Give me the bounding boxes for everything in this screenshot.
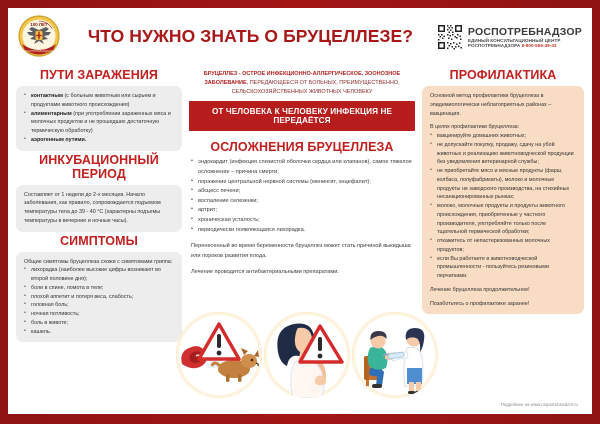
pregnancy-note: Перенесенный во время беременности бруце… bbox=[189, 242, 415, 261]
poster-columns: ПУТИ ЗАРАЖЕНИЯ контактным (с больным жив… bbox=[8, 66, 592, 414]
treatment-note: Лечение проводится антибактериальными пр… bbox=[189, 268, 415, 278]
brand-subtitle-line2: РОСПОТРЕБНАДЗОРА 8-800-555-49-43 bbox=[468, 43, 582, 48]
brand-text: РОСПОТРЕБНАДЗОР ЕДИНЫЙ КОНСУЛЬТАЦИОННЫЙ … bbox=[468, 26, 582, 49]
list-item: плохой аппетит и потеря веса, слабость; bbox=[24, 293, 174, 302]
poster-frame: 100 ЛЕТ РОСПОТРЕБНАДЗОР ЧТО НУЖНО ЗНАТЬ … bbox=[0, 0, 600, 424]
list-item: периодически появляющаяся лихорадка. bbox=[191, 226, 413, 236]
section-title-incubation: ИНКУБАЦИОННЫЙ ПЕРИОД bbox=[16, 153, 182, 181]
brand-block: РОСПОТРЕБНАДЗОР ЕДИНЫЙ КОНСУЛЬТАЦИОННЫЙ … bbox=[437, 24, 582, 50]
section-title-symptoms: СИМПТОМЫ bbox=[16, 234, 182, 248]
poster-header: 100 ЛЕТ РОСПОТРЕБНАДЗОР ЧТО НУЖНО ЗНАТЬ … bbox=[8, 8, 592, 66]
page-title: ЧТО НУЖНО ЗНАТЬ О БРУЦЕЛЛЕЗЕ? bbox=[64, 27, 437, 46]
list-item: если Вы работаете в животноводческой про… bbox=[430, 255, 576, 281]
transmission-term: контактным bbox=[31, 93, 63, 99]
card-incubation: Составляет от 1 недели до 2-х месяцев. Н… bbox=[16, 185, 182, 232]
incubation-text: Составляет от 1 недели до 2-х месяцев. Н… bbox=[24, 191, 174, 226]
list-item: ночная потливость; bbox=[24, 310, 174, 319]
closing-line-2: Позаботьтесь о профилактике заранее! bbox=[430, 300, 576, 309]
list-item: боль в животе; bbox=[24, 319, 174, 328]
list-item: головная боль; bbox=[24, 301, 174, 310]
list-item: эндокардит (инфекция слизистой оболочки … bbox=[191, 158, 413, 177]
list-item: артрит; bbox=[191, 206, 413, 216]
list-item: не приобретайте мясо и мясные продукты (… bbox=[430, 167, 576, 202]
section-title-complications: ОСЛОЖНЕНИЯ БРУЦЕЛЛЕЗА bbox=[189, 140, 415, 154]
svg-text:РОСПОТРЕБНАДЗОР: РОСПОТРЕБНАДЗОР bbox=[26, 49, 53, 53]
brand-subtitle-org: РОСПОТРЕБНАДЗОРА bbox=[468, 43, 520, 48]
list-item: поражение центральной нервной системы (м… bbox=[191, 178, 413, 188]
svg-text:100 ЛЕТ: 100 ЛЕТ bbox=[30, 22, 48, 27]
list-item: молоко, молочные продукты и продукты жив… bbox=[430, 202, 576, 237]
poster-sheet: 100 ЛЕТ РОСПОТРЕБНАДЗОР ЧТО НУЖНО ЗНАТЬ … bbox=[8, 8, 592, 414]
column-right: ПРОФИЛАКТИКА Основной метод профилактики… bbox=[422, 66, 584, 414]
qr-code-icon[interactable] bbox=[437, 24, 463, 50]
hotline-phone[interactable]: 8-800-555-49-43 bbox=[522, 43, 557, 48]
list-item: воспаление селезенки; bbox=[191, 197, 413, 207]
list-item: кашель. bbox=[24, 328, 174, 337]
brand-name: РОСПОТРЕБНАДЗОР bbox=[468, 26, 582, 38]
symptoms-intro: Общие симптомы бруцеллеза схожи с симпто… bbox=[24, 258, 174, 267]
list-item: боли в спине, ломота в теле; bbox=[24, 284, 174, 293]
list-item: откажитесь от непастеризованных молочных… bbox=[430, 237, 576, 255]
transmission-term: алиментарным bbox=[31, 111, 72, 117]
column-middle: БРУЦЕЛЛЕЗ - ОСТРОЕ ИНФЕКЦИОННО-АЛЛЕРГИЧЕ… bbox=[189, 66, 415, 414]
section-title-transmission: ПУТИ ЗАРАЖЕНИЯ bbox=[16, 68, 182, 82]
list-item: лихорадка (наиболее высокие цифры возник… bbox=[24, 266, 174, 284]
prophylaxis-intro: Основной метод профилактики бруцеллеза в… bbox=[430, 92, 576, 118]
rospotrebnadzor-emblem-icon: 100 ЛЕТ РОСПОТРЕБНАДЗОР bbox=[14, 12, 64, 62]
definition-text: БРУЦЕЛЛЕЗ - ОСТРОЕ ИНФЕКЦИОННО-АЛЛЕРГИЧЕ… bbox=[189, 66, 415, 101]
transmission-term: аэрогенным путями. bbox=[31, 137, 86, 143]
list-item: хроническая усталость; bbox=[191, 216, 413, 226]
card-transmission: контактным (с больным животным или сырье… bbox=[16, 86, 182, 151]
list-item: аэрогенным путями. bbox=[24, 136, 174, 145]
complications-list: эндокардит (инфекция слизистой оболочки … bbox=[189, 158, 415, 235]
footer-note: Подробнее на www.rospotrebnadzor.ru bbox=[501, 402, 578, 407]
list-item: вакцинируйте домашних животных; bbox=[430, 132, 576, 141]
definition-rest: , ПЕРЕДАЮЩЕЕСЯ ОТ БОЛЬНЫХ, ПРЕИМУЩЕСТВЕН… bbox=[232, 80, 400, 95]
column-left: ПУТИ ЗАРАЖЕНИЯ контактным (с больным жив… bbox=[16, 66, 182, 414]
prophylaxis-list-intro: В целях профилактики бруцеллеза: bbox=[430, 123, 576, 132]
section-title-prophylaxis: ПРОФИЛАКТИКА bbox=[422, 68, 584, 82]
card-prophylaxis: Основной метод профилактики бруцеллеза в… bbox=[422, 86, 584, 314]
closing-line-1: Лечение бруцеллеза продолжительное! bbox=[430, 286, 576, 295]
no-human-transmission-banner: ОТ ЧЕЛОВЕКА К ЧЕЛОВЕКУ ИНФЕКЦИЯ НЕ ПЕРЕД… bbox=[189, 101, 415, 131]
card-symptoms: Общие симптомы бруцеллеза схожи с симпто… bbox=[16, 252, 182, 343]
list-item: контактным (с больным животным или сырье… bbox=[24, 92, 174, 110]
list-item: не допускайте покупку, продажу, сдачу на… bbox=[430, 141, 576, 167]
list-item: алиментарным (при употреблении зараженны… bbox=[24, 110, 174, 136]
list-item: абсцесс печени; bbox=[191, 187, 413, 197]
